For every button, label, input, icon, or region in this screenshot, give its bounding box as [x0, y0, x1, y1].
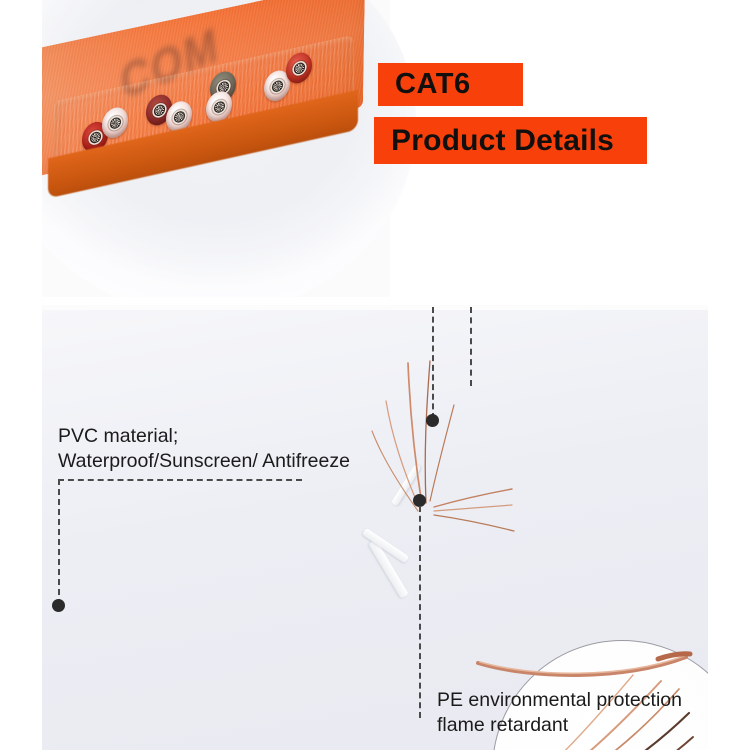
callout-pe-line-1: PE environmental protection — [437, 688, 682, 713]
leader-lens-vertical — [470, 307, 472, 386]
conductor-core — [154, 103, 165, 116]
callout-pvc: PVC material; Waterproof/Sunscreen/ Anti… — [58, 424, 350, 474]
callout-pvc-line-1: PVC material; — [58, 424, 350, 449]
conductor-core — [214, 100, 225, 113]
callout-pvc-line-2: Waterproof/Sunscreen/ Antifreeze — [58, 449, 350, 474]
leader-conductor-vertical — [432, 307, 434, 419]
banner-product-details: Product Details — [374, 117, 647, 164]
callout-pe-line-2: flame retardant — [437, 713, 682, 738]
conductor-core — [294, 61, 305, 74]
conductor-core — [110, 116, 121, 129]
cable-cross-section-photo: COM — [42, 0, 416, 297]
leader-pvc-horizontal — [58, 479, 302, 481]
callout-dot-pvc — [52, 599, 65, 612]
conductor-core — [272, 79, 283, 92]
product-detail-page: COM — [0, 0, 750, 750]
callout-dot-pe — [413, 494, 426, 507]
conductor-core — [174, 110, 185, 123]
banner-cat6: CAT6 — [378, 63, 523, 106]
leader-pvc-vertical — [58, 479, 60, 605]
leader-pe-vertical — [419, 506, 421, 718]
callout-dot-conductor — [426, 414, 439, 427]
conductor-core — [90, 130, 101, 143]
single-copper-strand-sample — [472, 645, 702, 689]
callout-pe: PE environmental protection flame retard… — [437, 688, 682, 738]
bottom-photo-panel — [42, 305, 708, 750]
